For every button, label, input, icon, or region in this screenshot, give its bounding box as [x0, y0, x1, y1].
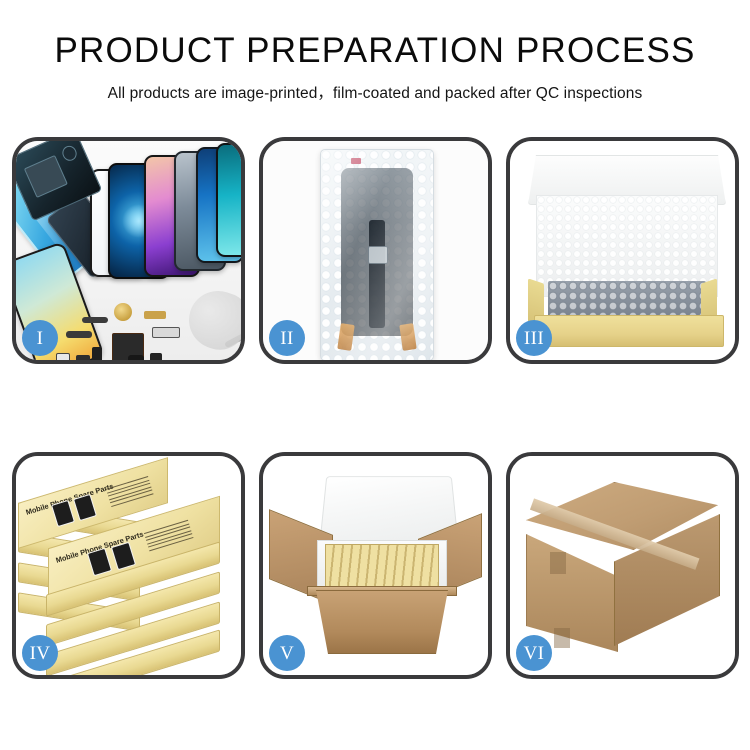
speaker-module-icon	[114, 303, 132, 321]
screw-icon	[228, 357, 234, 360]
header: PRODUCT PREPARATION PROCESS All products…	[0, 0, 750, 103]
carton-seam-icon	[550, 552, 566, 574]
step-badge-4: IV	[22, 635, 58, 671]
bubble-wrap-bag-icon	[320, 149, 434, 360]
step-panel-1[interactable]: I	[12, 137, 245, 364]
steps-grid: I II	[12, 137, 738, 682]
step-badge-6: VI	[516, 635, 552, 671]
packed-yellow-boxes-icon	[325, 544, 439, 588]
vibrator-icon	[128, 355, 144, 360]
step-badge-2: II	[269, 320, 305, 356]
small-chip-icon	[150, 353, 162, 360]
step-panel-3[interactable]: III	[506, 137, 739, 364]
product-preparation-infographic: PRODUCT PREPARATION PROCESS All products…	[0, 0, 750, 750]
screw-icon	[238, 355, 241, 360]
antenna-flex-icon	[66, 331, 92, 338]
step-panel-4[interactable]: Mobile Phone Spare Parts Mobile Phone Sp…	[12, 452, 245, 679]
step-panel-6[interactable]: VI	[506, 452, 739, 679]
teal-wallpaper-phone-icon	[216, 143, 241, 257]
step-badge-5: V	[269, 635, 305, 671]
ribbon-cable-icon	[152, 327, 180, 338]
camera-module-icon	[76, 355, 90, 360]
page-title: PRODUCT PREPARATION PROCESS	[0, 0, 750, 70]
carton-left-face-icon	[526, 534, 618, 652]
flex-cable-icon	[82, 317, 108, 323]
battery-connector-icon	[92, 347, 102, 360]
step-badge-3: III	[516, 320, 552, 356]
gold-flex-icon	[144, 311, 166, 319]
step-panel-5[interactable]: V	[259, 452, 492, 679]
step-panel-2[interactable]: II	[259, 137, 492, 364]
carton-seam-icon	[554, 628, 570, 648]
yellow-box-front-icon	[534, 315, 724, 347]
step-badge-1: I	[22, 320, 58, 356]
sim-tray-icon	[56, 353, 70, 360]
carton-body-icon	[307, 590, 457, 654]
plastic-gloss-overlay	[321, 150, 433, 360]
page-subtitle: All products are image-printed，film-coat…	[0, 70, 750, 103]
hand-icon	[181, 283, 241, 356]
